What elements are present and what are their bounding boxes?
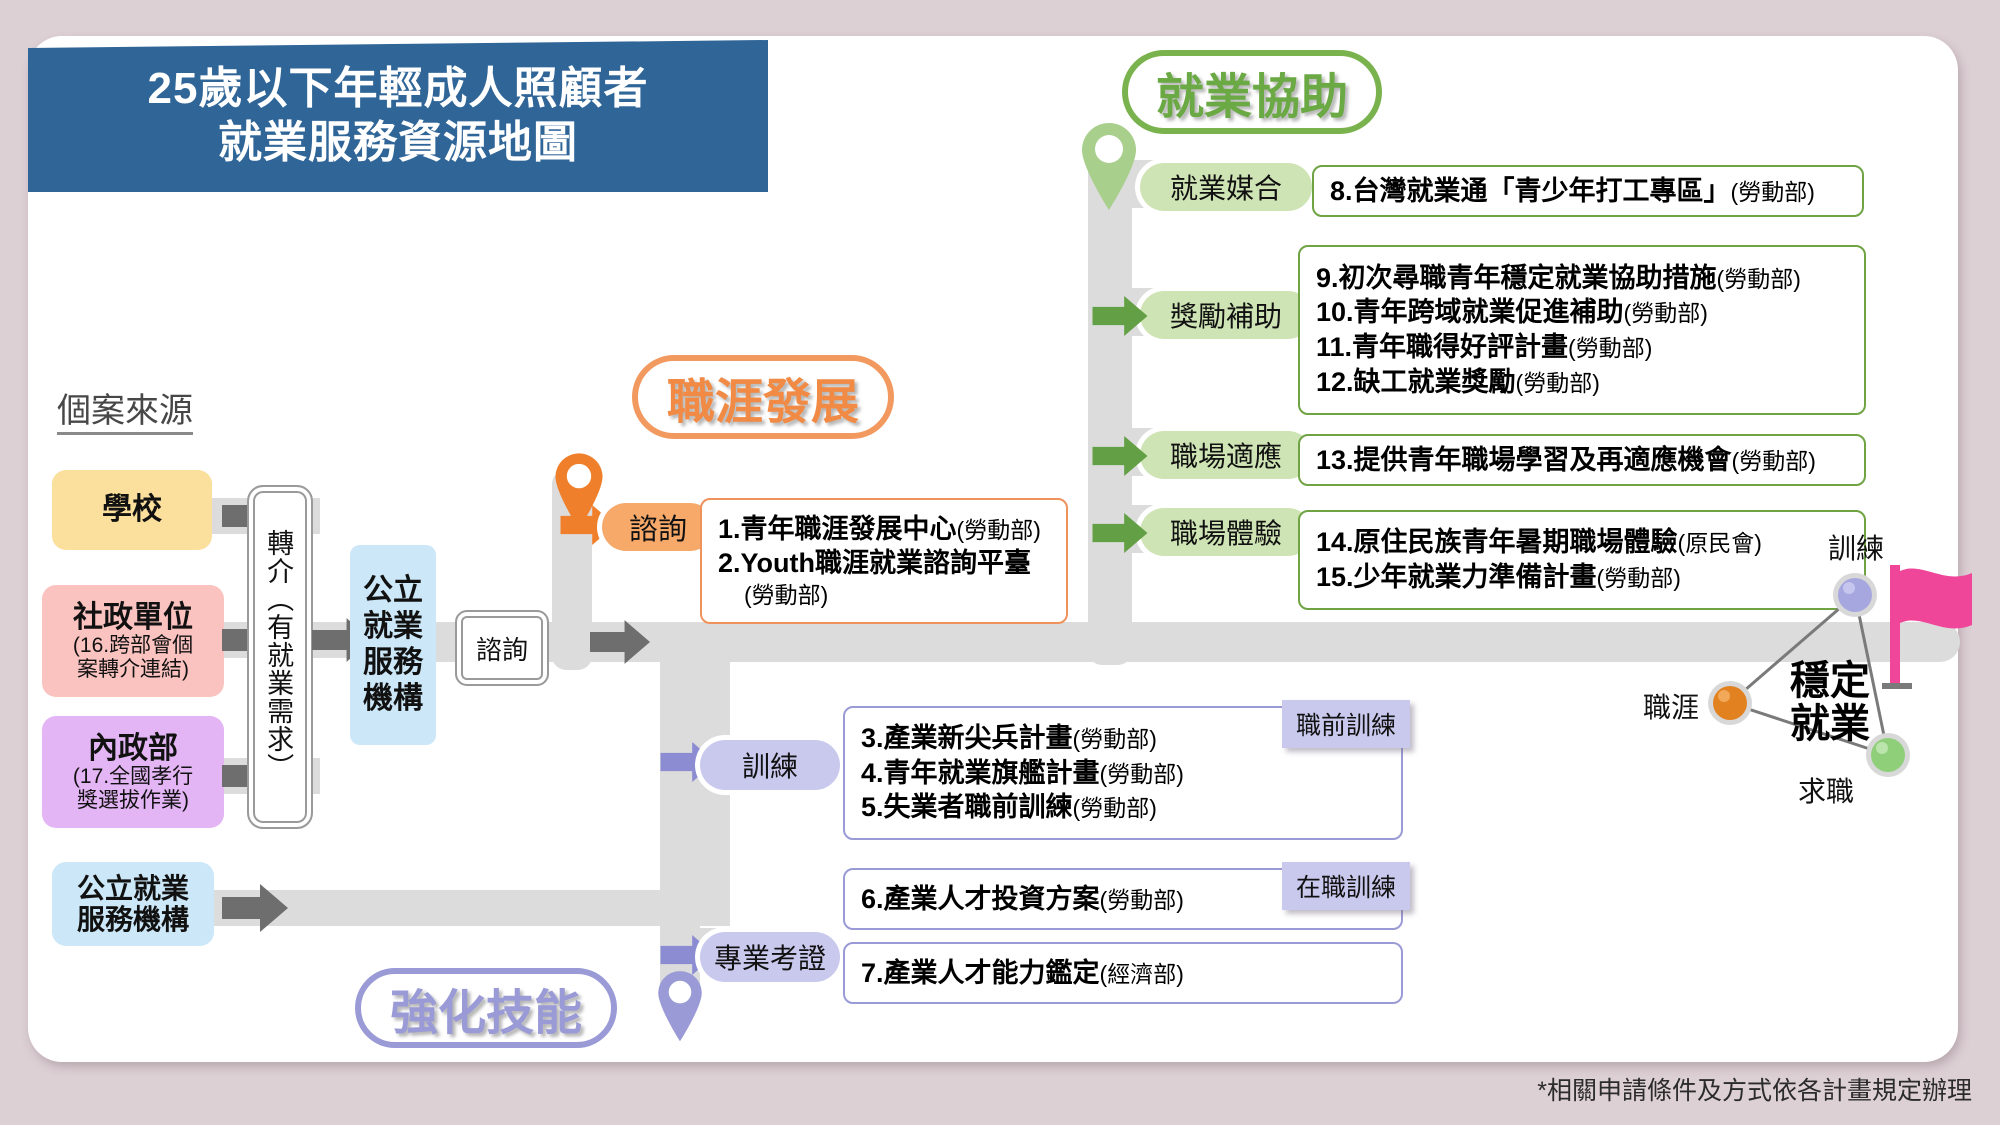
outcome-node-label-jobseek: 求職: [1798, 770, 1854, 810]
item-number: 6.: [861, 884, 884, 914]
outcome-center-line-2: 就業: [1790, 703, 1870, 746]
item-line: 5.失業者職前訓練(勞動部): [861, 790, 1385, 825]
goal-flag-icon: [1882, 565, 1978, 693]
source-box-moi[interactable]: 內政部 (17.全國孝行 獎選拔作業): [42, 716, 224, 828]
infographic-canvas: 25歲以下年輕成人照顧者 就業服務資源地圖 個案來源 學校 社政單位 (16.跨…: [0, 0, 2000, 1125]
source-box-school[interactable]: 學校: [52, 470, 212, 550]
outcome-center-label: 穩定 就業: [1790, 660, 1870, 746]
map-pin-purple-icon: [655, 968, 705, 1042]
item-number: 3.: [861, 723, 884, 753]
arrow-experience-icon: [1092, 513, 1148, 553]
item-name: 產業人才投資方案: [884, 884, 1100, 914]
item-dept: (勞動部): [1073, 726, 1157, 752]
arrow-pesa-bottom-icon: [222, 884, 288, 932]
group-label-incentive-subsidy[interactable]: 獎勵補助: [1140, 291, 1312, 339]
item-line: 13.提供青年職場學習及再適應機會(勞動部): [1316, 443, 1848, 478]
item-name: 缺工就業獎勵: [1354, 367, 1516, 397]
item-name: 原住民族青年暑期職場體驗: [1354, 527, 1678, 557]
item-line: 4.青年就業旗艦計畫(勞動部): [861, 756, 1385, 791]
group-label-text: 專業考證: [714, 937, 826, 977]
item-number: 4.: [861, 758, 884, 788]
group-label-workplace-experience[interactable]: 職場體驗: [1140, 508, 1312, 556]
item-card-job-matching[interactable]: 8.台灣就業通「青少年打工專區」(勞動部): [1312, 165, 1864, 217]
item-name: 產業新尖兵計畫: [884, 723, 1073, 753]
item-number: 2.: [718, 548, 741, 578]
consult-gate-box[interactable]: 諮詢: [455, 610, 549, 686]
source-label-2: 服務機構: [77, 904, 189, 935]
item-dept: (勞動部): [1100, 887, 1184, 913]
group-label-text: 就業媒合: [1170, 167, 1282, 207]
item-dept: (勞動部): [1568, 335, 1652, 361]
item-number: 13.: [1316, 445, 1354, 475]
item-line: 9.初次尋職青年穩定就業協助措施(勞動部): [1316, 261, 1848, 296]
pesa-column-label: 公立就業服務機構: [350, 573, 436, 717]
tag-pre-employment-training: 職前訓練: [1282, 700, 1410, 748]
arrow-incentive-icon: [1092, 296, 1148, 336]
item-card-workplace-adaptation[interactable]: 13.提供青年職場學習及再適應機會(勞動部): [1298, 434, 1866, 486]
group-label-text: 獎勵補助: [1170, 295, 1282, 335]
consult-gate-label: 諮詢: [476, 630, 528, 667]
group-label-training[interactable]: 訓練: [700, 740, 840, 790]
item-dept: (勞動部): [1732, 448, 1816, 474]
item-name: 青年職涯發展中心: [741, 514, 957, 544]
source-note-2: 獎選拔作業): [77, 789, 189, 813]
group-label-text: 職場體驗: [1170, 512, 1282, 552]
item-dept: (勞動部): [957, 517, 1041, 543]
group-label-career-consult[interactable]: 諮詢: [602, 503, 714, 551]
road-pesa-bottom: [210, 890, 730, 926]
item-dept: (勞動部): [1624, 300, 1708, 326]
source-box-social[interactable]: 社政單位 (16.跨部會個 案轉介連結): [42, 585, 224, 697]
item-dept: (經濟部): [1100, 961, 1184, 987]
item-dept: (勞動部): [1073, 795, 1157, 821]
title-line-2: 就業服務資源地圖: [218, 116, 578, 170]
item-name: 青年跨域就業促進補助: [1354, 297, 1624, 327]
item-name: 失業者職前訓練: [884, 792, 1073, 822]
group-label-text: 訓練: [742, 745, 798, 785]
group-label-text: 職場適應: [1170, 435, 1282, 475]
title-banner: 25歲以下年輕成人照顧者 就業服務資源地圖: [28, 40, 768, 192]
item-number: 12.: [1316, 367, 1354, 397]
group-label-workplace-adaptation[interactable]: 職場適應: [1140, 431, 1312, 479]
outcome-center-line-1: 穩定: [1790, 660, 1870, 703]
source-note-1: (16.跨部會個: [73, 634, 193, 658]
item-number: 8.: [1330, 176, 1353, 206]
item-line: 10.青年跨域就業促進補助(勞動部): [1316, 295, 1848, 330]
item-name: 青年就業旗艦計畫: [884, 758, 1100, 788]
item-name: 產業人才能力鑑定: [884, 958, 1100, 988]
item-dept: (勞動部): [1516, 370, 1600, 396]
item-number: 9.: [1316, 263, 1339, 293]
case-source-heading: 個案來源: [57, 393, 193, 435]
source-label: 公立就業: [77, 873, 189, 904]
item-dept-line: (勞動部): [718, 581, 1050, 610]
item-line: 1.青年職涯發展中心(勞動部): [718, 512, 1050, 547]
section-title-skill-enhancement: 強化技能: [355, 968, 617, 1048]
section-title-text: 職涯發展: [667, 362, 859, 432]
referral-gate-label: 轉介（有就業需求）: [247, 485, 309, 825]
item-name: Youth職涯就業諮詢平臺: [741, 548, 1031, 578]
item-name: 初次尋職青年穩定就業協助措施: [1339, 263, 1717, 293]
item-line: 11.青年職得好評計畫(勞動部): [1316, 330, 1848, 365]
item-line: 8.台灣就業通「青少年打工專區」(勞動部): [1330, 174, 1846, 209]
source-note-2: 案轉介連結): [77, 658, 189, 682]
section-title-employment-help: 就業協助: [1122, 50, 1382, 134]
group-label-job-matching[interactable]: 就業媒合: [1140, 163, 1312, 211]
item-dept: (原民會): [1678, 530, 1762, 556]
item-dept: (勞動部): [1100, 761, 1184, 787]
footnote: *相關申請條件及方式依各計畫規定辦理: [1537, 1071, 1972, 1107]
arrow-adaptation-icon: [1092, 436, 1148, 476]
item-number: 15.: [1316, 562, 1354, 592]
item-number: 5.: [861, 792, 884, 822]
item-number: 7.: [861, 958, 884, 988]
road-employment-trunk: [1088, 155, 1132, 665]
item-card-certification[interactable]: 7.產業人才能力鑑定(經濟部): [843, 942, 1403, 1004]
source-label: 內政部: [88, 732, 178, 766]
item-dept: (勞動部): [1717, 266, 1801, 292]
section-title-career-development: 職涯發展: [632, 355, 894, 439]
title-line-1: 25歲以下年輕成人照顧者: [148, 62, 649, 116]
map-pin-green-icon: [1078, 120, 1140, 210]
section-title-text: 強化技能: [390, 973, 582, 1043]
item-dept: (勞動部): [1731, 179, 1815, 205]
item-number: 11.: [1316, 332, 1352, 362]
source-label: 社政單位: [73, 601, 193, 635]
group-label-certification[interactable]: 專業考證: [700, 932, 840, 982]
outcome-node-label-training: 訓練: [1828, 527, 1884, 567]
item-number: 1.: [718, 514, 741, 544]
item-name: 提供青年職場學習及再適應機會: [1354, 445, 1732, 475]
item-card-incentive-subsidy[interactable]: 9.初次尋職青年穩定就業協助措施(勞動部) 10.青年跨域就業促進補助(勞動部)…: [1298, 245, 1866, 415]
tag-on-the-job-training: 在職訓練: [1282, 862, 1410, 910]
item-name: 台灣就業通「青少年打工專區」: [1353, 176, 1731, 206]
source-label: 學校: [102, 493, 162, 527]
source-note-1: (17.全國孝行: [73, 765, 193, 789]
section-title-text: 就業協助: [1156, 57, 1348, 127]
item-name: 青年職得好評計畫: [1352, 332, 1568, 362]
group-label-text: 諮詢: [629, 506, 687, 548]
public-employment-service-column[interactable]: 公立就業服務機構: [350, 545, 436, 745]
item-line: 7.產業人才能力鑑定(經濟部): [861, 956, 1385, 991]
item-line: 2.Youth職涯就業諮詢平臺: [718, 546, 1050, 581]
item-name: 少年就業力準備計畫: [1354, 562, 1597, 592]
item-card-career-consult[interactable]: 1.青年職涯發展中心(勞動部) 2.Youth職涯就業諮詢平臺 (勞動部): [700, 498, 1068, 624]
outcome-node-label-career: 職涯: [1643, 686, 1699, 726]
source-box-public-employment-service[interactable]: 公立就業 服務機構: [52, 862, 214, 946]
item-number: 14.: [1316, 527, 1354, 557]
arrow-consult-to-spine-icon: [590, 618, 650, 666]
item-number: 10.: [1316, 297, 1354, 327]
item-line: 12.缺工就業獎勵(勞動部): [1316, 365, 1848, 400]
